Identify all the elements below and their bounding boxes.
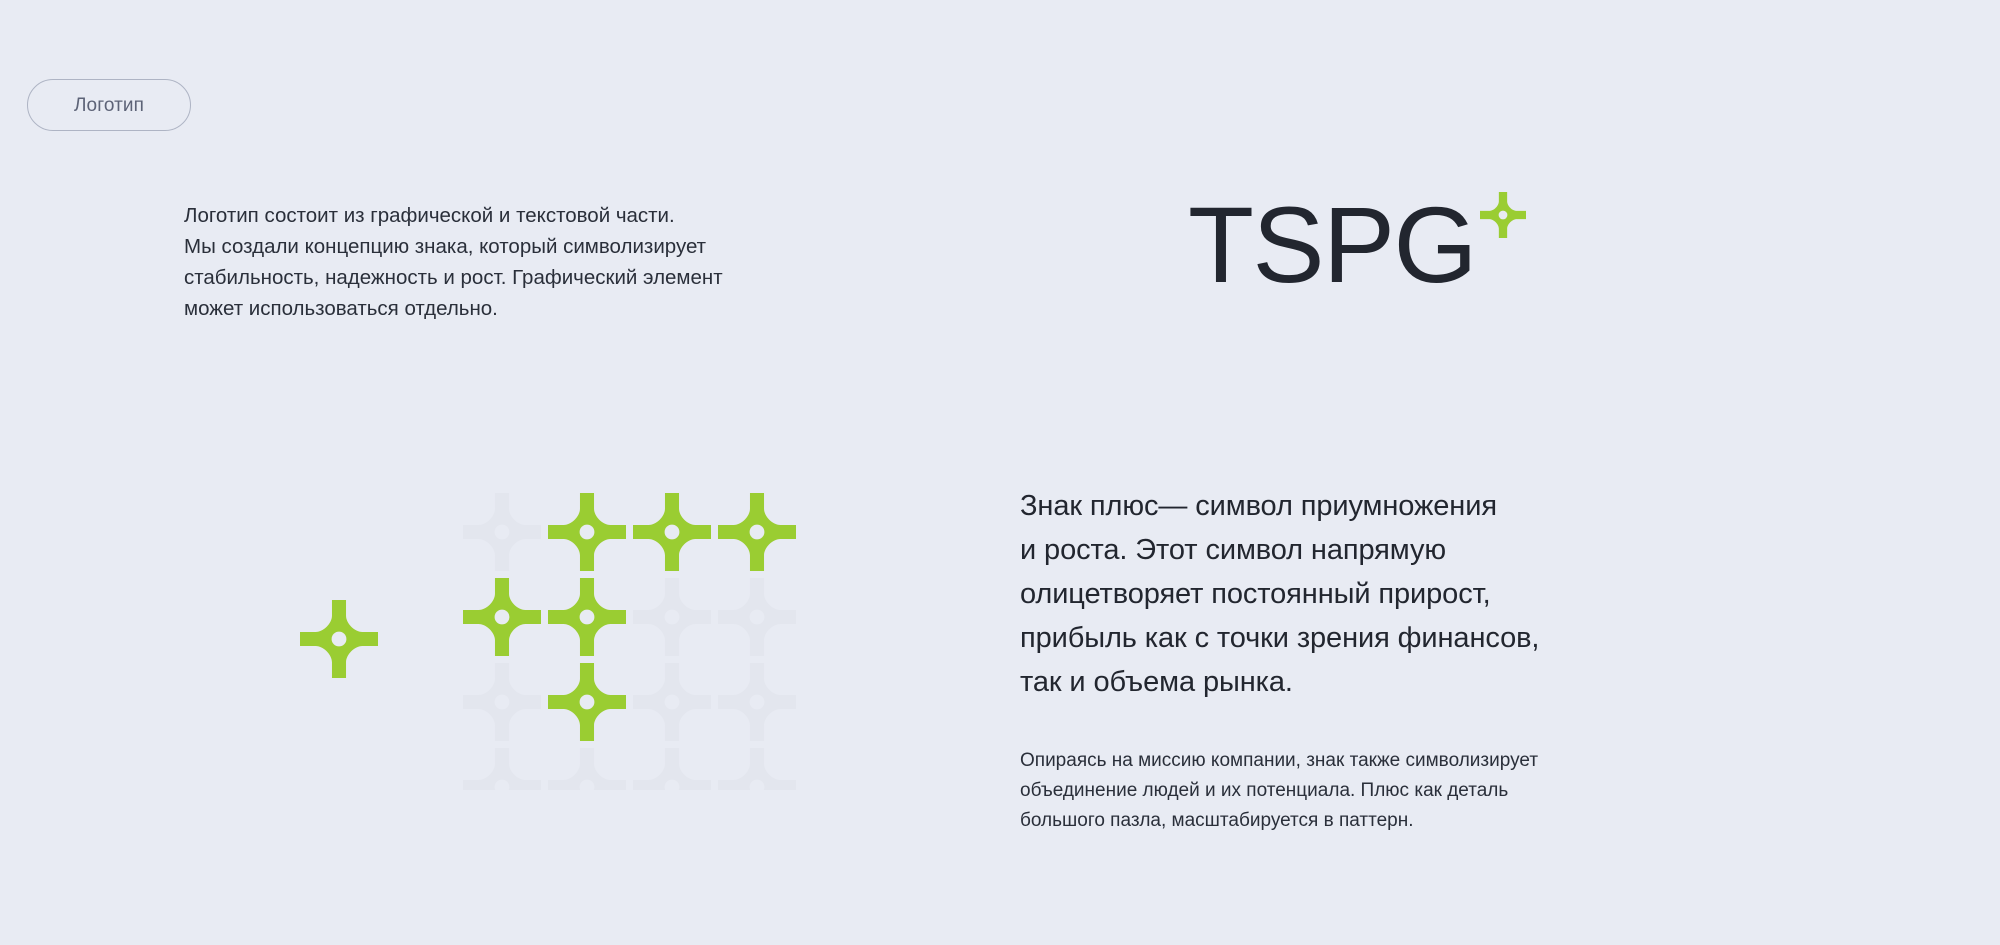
lead-line-2: и роста. Этот символ напрямую <box>1020 534 1446 566</box>
body-line-3: большого пазла, масштабируется в паттерн… <box>1020 810 1414 831</box>
body-paragraph: Опираясь на миссию компании, знак также … <box>1020 704 1700 836</box>
lead-paragraph: Знак плюс— символ приумножения и роста. … <box>1020 484 1700 704</box>
plus-node <box>548 578 626 656</box>
plus-mark-icon <box>1480 192 1526 243</box>
lead-line-1: Знак плюс— символ приумножения <box>1020 490 1497 522</box>
intro-text-block: Логотип состоит из графической и текстов… <box>184 200 844 324</box>
plus-node <box>718 748 796 790</box>
plus-node <box>633 663 711 741</box>
intro-line-3: стабильность, надежность и рост. Графиче… <box>184 262 844 293</box>
lead-line-4: прибыль как с точки зрения финансов, <box>1020 622 1539 654</box>
body-line-1: Опираясь на миссию компании, знак также … <box>1020 750 1538 771</box>
plus-node <box>633 748 711 790</box>
plus-node <box>463 493 541 571</box>
section-badge-label: Логотип <box>74 96 144 115</box>
lead-line-5: так и объема рынка. <box>1020 666 1293 698</box>
plus-node <box>463 578 541 656</box>
plus-node <box>633 578 711 656</box>
plus-node <box>463 748 541 790</box>
body-line-2: объединение людей и их потенциала. Плюс … <box>1020 780 1508 801</box>
right-text-column: Знак плюс— символ приумножения и роста. … <box>1020 484 1700 836</box>
brandbook-slide: Логотип Логотип состоит из графической и… <box>0 0 2000 945</box>
plus-node <box>548 748 626 790</box>
plus-node <box>548 663 626 741</box>
plus-node <box>718 663 796 741</box>
plus-node <box>718 578 796 656</box>
plus-node <box>463 663 541 741</box>
intro-line-1: Логотип состоит из графической и текстов… <box>184 200 844 231</box>
logo-lockup: TSPG <box>1188 190 1526 300</box>
standalone-plus-icon <box>300 600 378 683</box>
lead-line-3: олицетворяет постоянный прирост, <box>1020 578 1491 610</box>
logo-wordmark: TSPG <box>1188 190 1476 300</box>
intro-line-2: Мы создали концепцию знака, который симв… <box>184 231 844 262</box>
plus-node <box>548 493 626 571</box>
plus-pattern-grid <box>460 490 840 795</box>
plus-node <box>633 493 711 571</box>
intro-line-4: может использоваться отдельно. <box>184 293 844 324</box>
plus-node <box>718 493 796 571</box>
section-badge[interactable]: Логотип <box>27 79 191 131</box>
pattern-area <box>280 490 840 790</box>
